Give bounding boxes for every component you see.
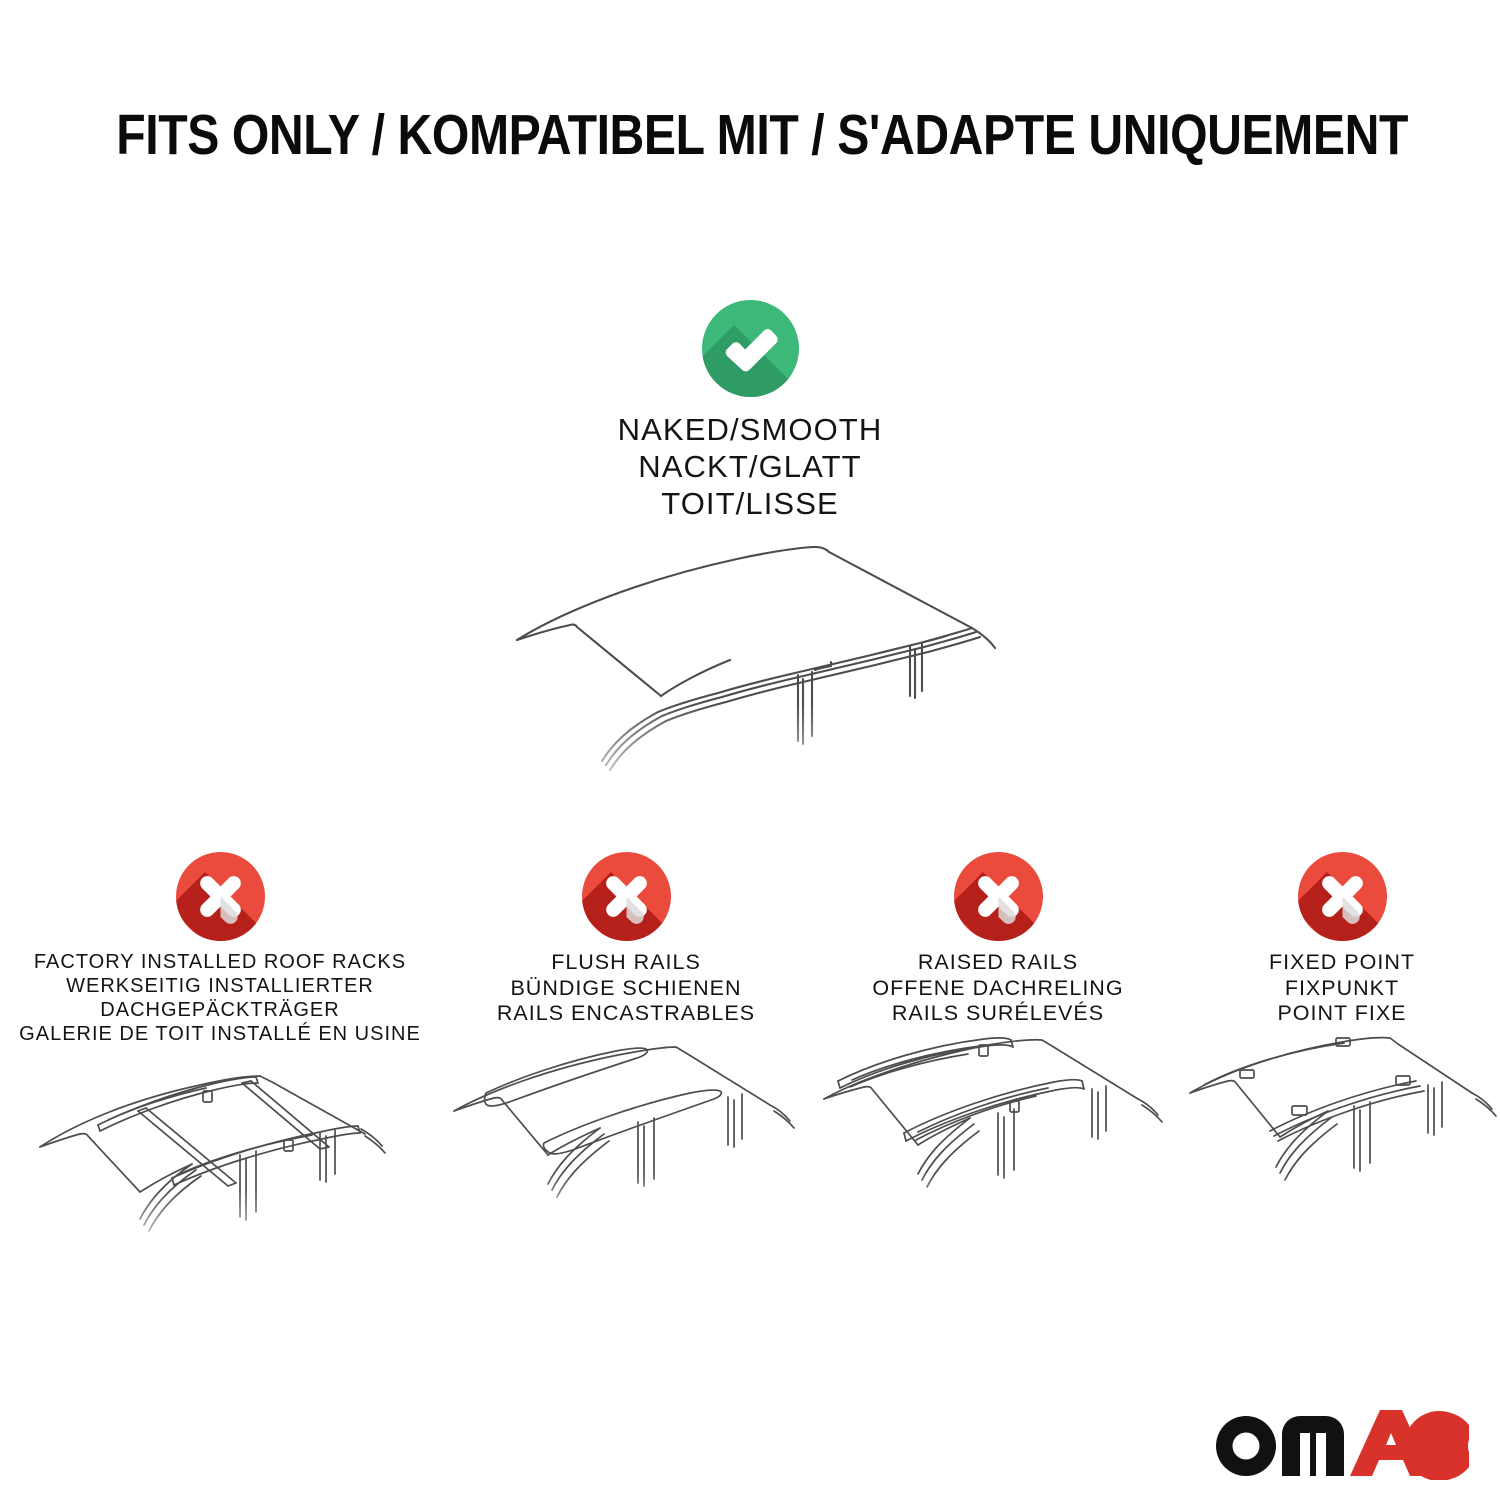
compatible-section: NAKED/SMOOTH NACKT/GLATT TOIT/LISSE xyxy=(0,300,1500,806)
cross-circle-icon xyxy=(582,852,671,941)
incompatible-item-raised-rails: RAISED RAILS OFFENE DACHRELING RAILS SUR… xyxy=(812,852,1184,1243)
omac-logo: OMAC xyxy=(1210,1406,1470,1480)
page-title: FITS ONLY / KOMPATIBEL MIT / S'ADAPTE UN… xyxy=(116,104,1384,166)
incompatible-section: FACTORY INSTALLED ROOF RACKS WERKSEITIG … xyxy=(0,852,1500,1262)
incompatible-label: FACTORY INSTALLED ROOF RACKS WERKSEITIG … xyxy=(19,950,421,1046)
incompatible-label: RAISED RAILS OFFENE DACHRELING RAILS SUR… xyxy=(872,950,1123,1027)
check-circle-icon xyxy=(702,300,799,397)
raised-rails-illustration xyxy=(812,1033,1184,1243)
fixed-point-illustration xyxy=(1184,1033,1500,1243)
flush-rails-illustration xyxy=(440,1033,812,1243)
incompatible-label: FLUSH RAILS BÜNDIGE SCHIENEN RAILS ENCAS… xyxy=(497,950,755,1027)
cross-circle-icon xyxy=(954,852,1043,941)
incompatible-label: FIXED POINT FIXPUNKT POINT FIXE xyxy=(1269,950,1415,1027)
incompatible-item-factory-roof-racks: FACTORY INSTALLED ROOF RACKS WERKSEITIG … xyxy=(0,852,440,1262)
cross-circle-icon xyxy=(1298,852,1387,941)
compatible-label: NAKED/SMOOTH NACKT/GLATT TOIT/LISSE xyxy=(0,411,1500,522)
factory-roof-rack-illustration xyxy=(0,1052,440,1262)
compatible-badge-wrap xyxy=(0,300,1500,397)
naked-smooth-roof-illustration xyxy=(0,536,1500,806)
incompatible-item-fixed-point: FIXED POINT FIXPUNKT POINT FIXE xyxy=(1184,852,1500,1243)
cross-circle-icon xyxy=(176,852,265,941)
incompatible-item-flush-rails: FLUSH RAILS BÜNDIGE SCHIENEN RAILS ENCAS… xyxy=(440,852,812,1243)
